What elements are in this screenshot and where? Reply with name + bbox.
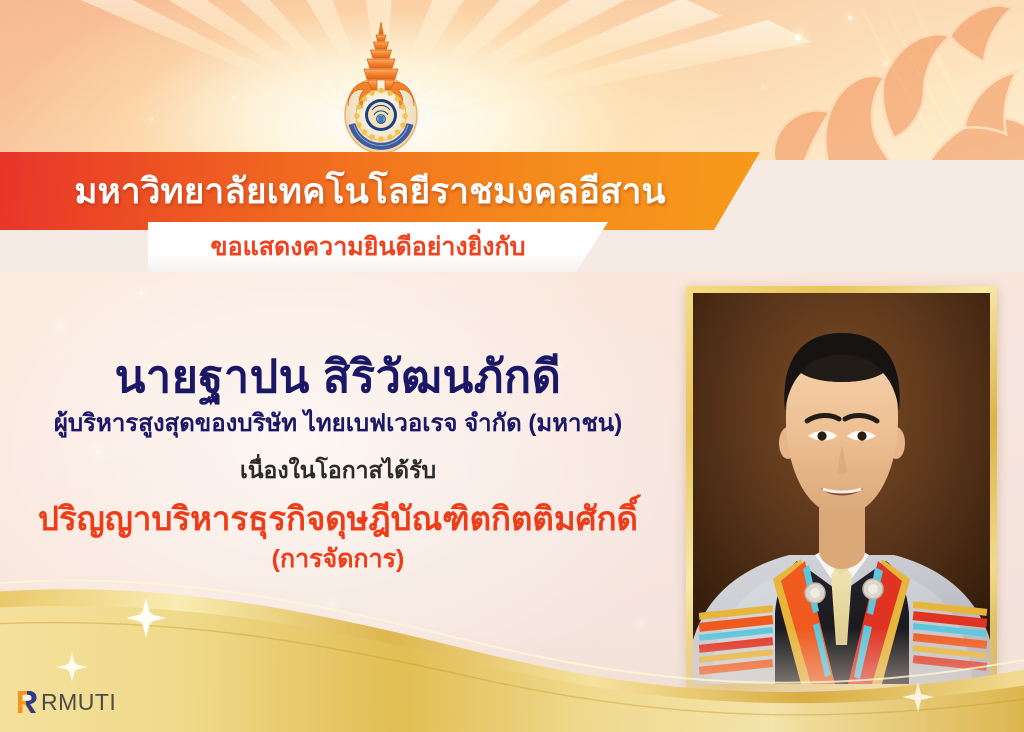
congratulation-banner: มหาวิทยาลัยเทคโนโลยีราชมงคลอีสาน ขอแสดงค… bbox=[0, 0, 1024, 732]
honoree-position: ผู้บริหารสูงสุดของบริษัท ไทยเบฟเวอเรจ จำ… bbox=[0, 409, 676, 439]
congratulation-line: ขอแสดงความยินดีอย่างยิ่งกับ bbox=[148, 222, 588, 272]
gold-ribbon-wave-icon bbox=[0, 562, 1024, 732]
rmuti-royal-emblem-icon bbox=[338, 20, 424, 158]
watermark-text: RMUTI bbox=[41, 689, 116, 716]
honoree-text-block: นายฐาปน สิริวัฒนภักดี ผู้บริหารสูงสุดของ… bbox=[0, 350, 676, 574]
sparkle bbox=[58, 324, 62, 328]
rmuti-r-mark-icon bbox=[14, 688, 40, 716]
university-name: มหาวิทยาลัยเทคโนโลยีราชมงคลอีสาน bbox=[0, 152, 740, 230]
honoree-name: นายฐาปน สิริวัฒนภักดี bbox=[0, 350, 676, 403]
thai-floral-kanok-icon bbox=[734, 0, 1024, 160]
hero-background bbox=[0, 0, 1024, 160]
degree-title: ปริญญาบริหารธุรกิจดุษฎีบัณฑิตกิตติมศักดิ… bbox=[0, 499, 676, 539]
occasion-line: เนื่องในโอกาสได้รับ bbox=[0, 457, 676, 485]
sparkle bbox=[140, 292, 143, 295]
rmuti-watermark: RMUTI bbox=[14, 688, 116, 716]
